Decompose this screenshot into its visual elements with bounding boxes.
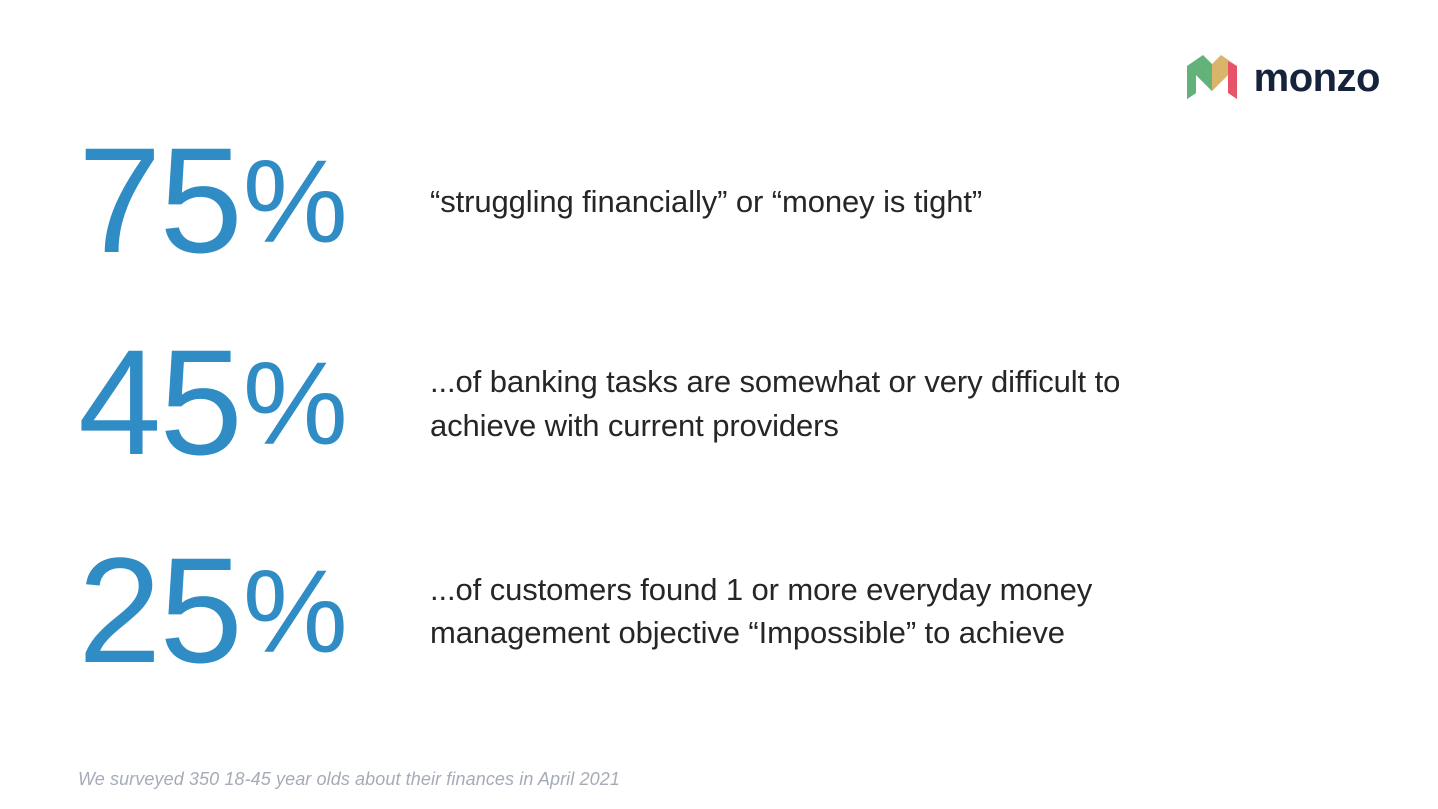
stat-row: 75% “struggling financially” or “money i… xyxy=(78,128,1378,273)
stat-figure: 25% xyxy=(78,534,430,687)
monzo-brand-lockup: monzo xyxy=(1187,52,1380,102)
stat-figure-percent: % xyxy=(243,338,347,470)
monzo-wordmark: monzo xyxy=(1254,58,1380,98)
survey-footnote: We surveyed 350 18-45 year olds about th… xyxy=(78,769,620,790)
slide-canvas: monzo 75% “struggling financially” or “m… xyxy=(0,0,1438,809)
stat-description: “struggling financially” or “money is ti… xyxy=(430,178,1190,223)
stat-row: 25% ...of customers found 1 or more ever… xyxy=(78,535,1378,685)
stat-figure-number: 25 xyxy=(78,526,241,694)
stat-figure: 75% xyxy=(78,124,430,277)
stat-figure-number: 45 xyxy=(78,318,241,486)
stat-row: 45% ...of banking tasks are somewhat or … xyxy=(78,330,1378,475)
stat-figure-number: 75 xyxy=(78,116,241,284)
monzo-m-logo-icon xyxy=(1187,55,1237,99)
stat-figure-percent: % xyxy=(243,546,347,678)
stat-description: ...of customers found 1 or more everyday… xyxy=(430,566,1190,655)
stat-figure: 45% xyxy=(78,326,430,479)
stat-figure-percent: % xyxy=(243,136,347,268)
stat-description: ...of banking tasks are somewhat or very… xyxy=(430,358,1190,447)
